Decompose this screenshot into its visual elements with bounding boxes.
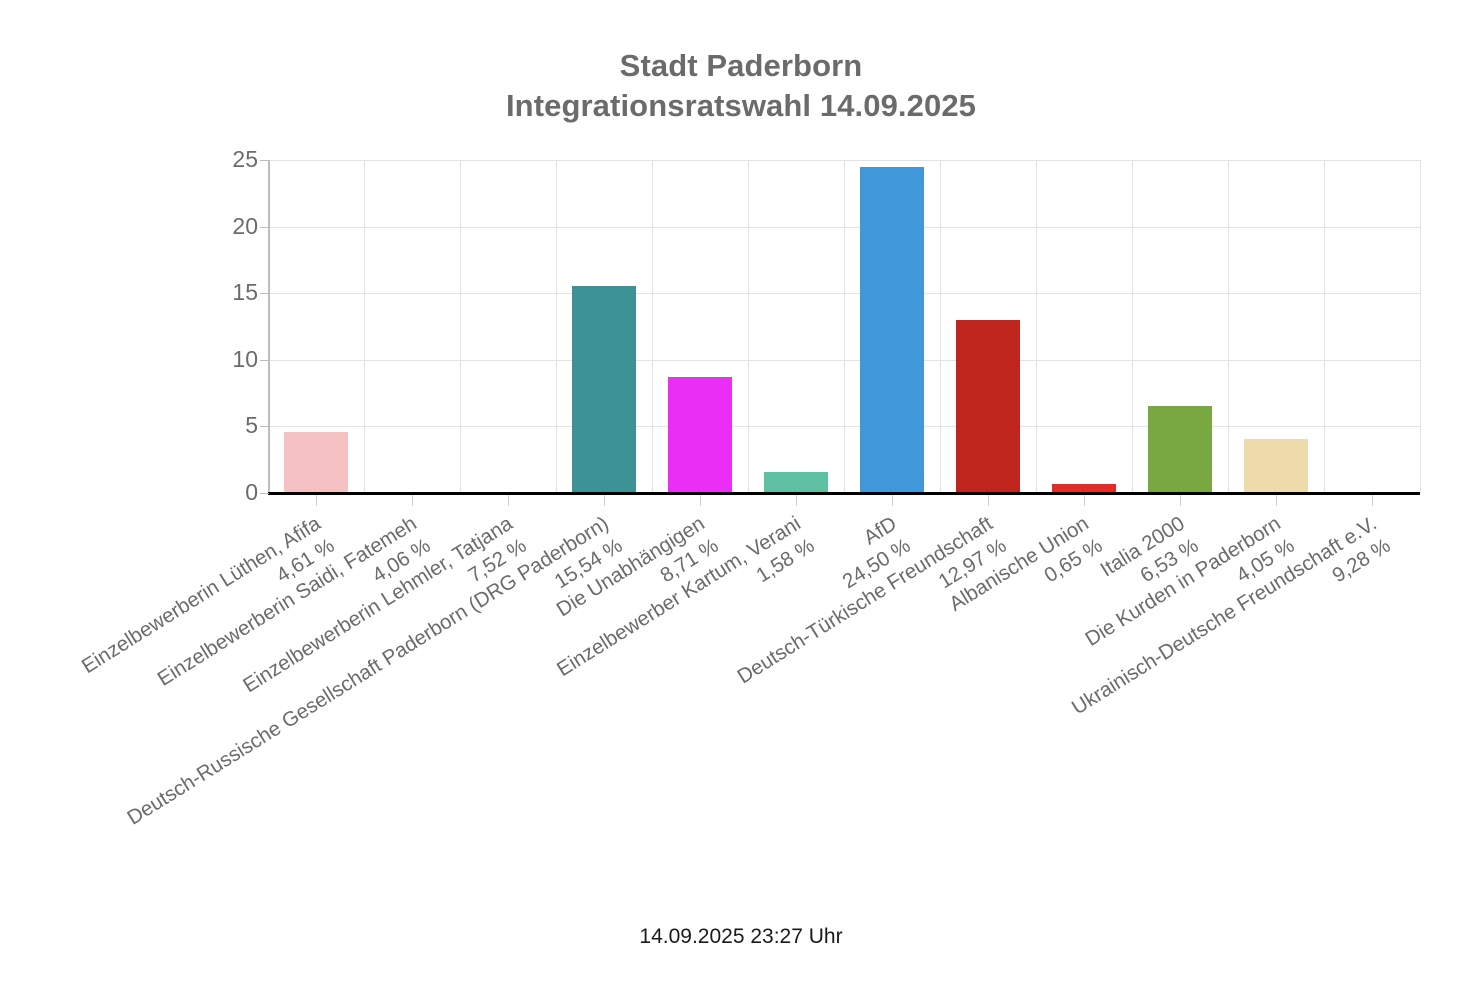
- footer-timestamp: 14.09.2025 23:27 Uhr: [0, 925, 1482, 949]
- x-axis-tick-mark: [604, 495, 605, 506]
- chart-bar[interactable]: [572, 286, 635, 493]
- x-gridline: [940, 160, 941, 493]
- x-gridline: [748, 160, 749, 493]
- title-line-1: Stadt Paderborn: [0, 46, 1482, 86]
- x-gridline: [844, 160, 845, 493]
- x-axis-tick-mark: [988, 495, 989, 506]
- y-axis-tick-label: 5: [58, 414, 258, 437]
- chart-bar[interactable]: [668, 377, 731, 493]
- chart-bar[interactable]: [1148, 406, 1211, 493]
- y-axis-tick-label: 20: [58, 215, 258, 238]
- y-axis-tick-mark: [260, 426, 269, 427]
- y-axis-tick-label: 10: [58, 348, 258, 371]
- x-axis-tick-mark: [892, 495, 893, 506]
- x-axis-baseline: [268, 492, 1420, 495]
- y-axis-line: [268, 160, 270, 493]
- x-gridline: [1228, 160, 1229, 493]
- x-axis-tick-mark: [1084, 495, 1085, 506]
- y-axis-tick-mark: [260, 293, 269, 294]
- y-axis-tick-label: 15: [58, 281, 258, 304]
- x-gridline: [1132, 160, 1133, 493]
- page-title: Stadt Paderborn Integrationsratswahl 14.…: [0, 46, 1482, 126]
- chart-plot-area: [268, 160, 1420, 493]
- x-gridline: [364, 160, 365, 493]
- x-axis-tick-mark: [508, 495, 509, 506]
- chart-bar[interactable]: [284, 432, 347, 493]
- chart-bar[interactable]: [860, 167, 923, 493]
- x-gridline: [1324, 160, 1325, 493]
- y-axis-tick-mark: [260, 493, 269, 494]
- chart-bar[interactable]: [956, 320, 1019, 493]
- x-axis-tick-mark: [316, 495, 317, 506]
- x-gridline: [652, 160, 653, 493]
- y-axis-tick-mark: [260, 227, 269, 228]
- x-axis-tick-mark: [700, 495, 701, 506]
- x-gridline: [1036, 160, 1037, 493]
- title-line-2: Integrationsratswahl 14.09.2025: [0, 86, 1482, 126]
- x-gridline: [460, 160, 461, 493]
- x-gridline: [1420, 160, 1421, 493]
- chart-bar[interactable]: [1244, 439, 1307, 493]
- y-axis-tick-label: 25: [58, 148, 258, 171]
- y-axis-tick-mark: [260, 360, 269, 361]
- y-axis-tick-mark: [260, 160, 269, 161]
- x-axis-tick-mark: [1180, 495, 1181, 506]
- x-gridline: [556, 160, 557, 493]
- x-axis-tick-mark: [796, 495, 797, 506]
- chart-bar[interactable]: [764, 472, 827, 493]
- y-axis-tick-label: 0: [58, 481, 258, 504]
- x-axis-tick-mark: [412, 495, 413, 506]
- x-axis-tick-mark: [1276, 495, 1277, 506]
- x-axis-tick-mark: [1372, 495, 1373, 506]
